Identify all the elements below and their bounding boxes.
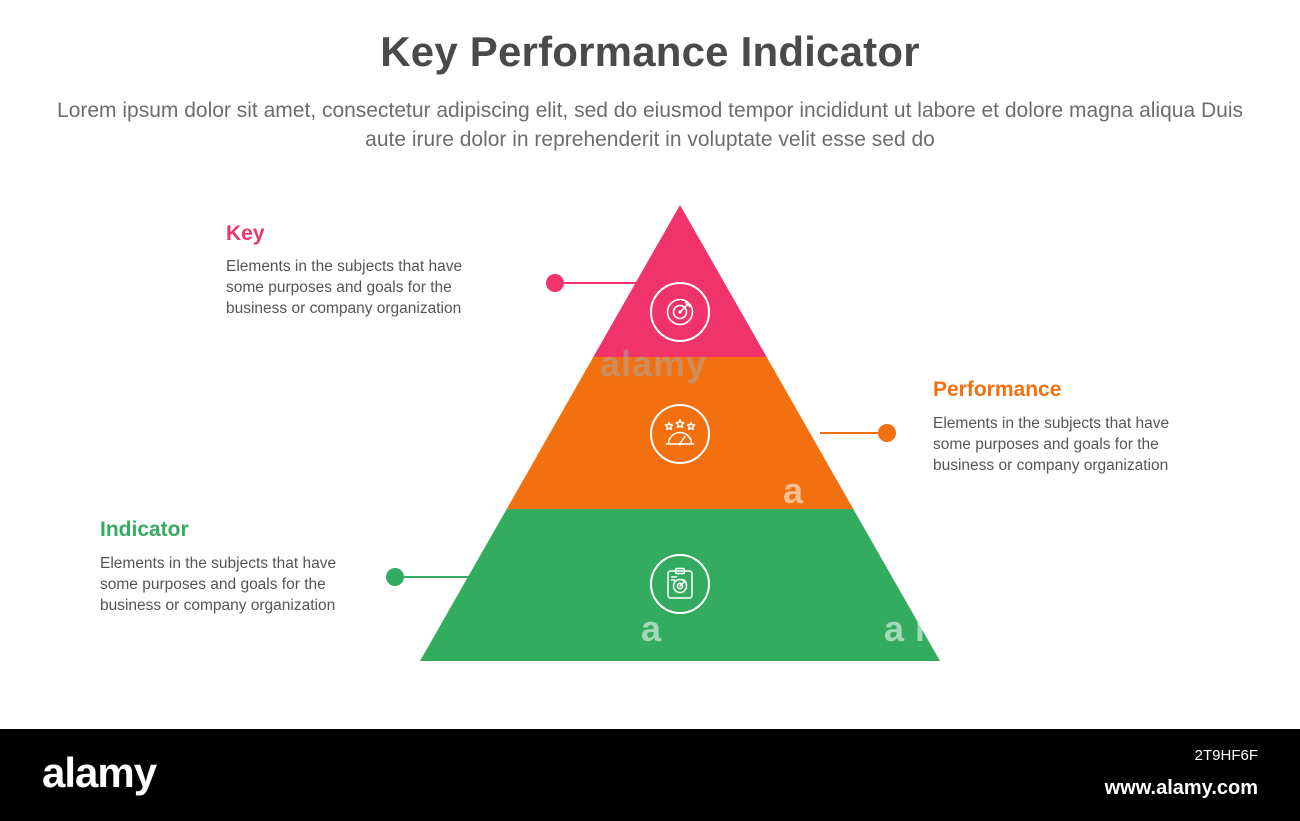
block-desc-key: Elements in the subjects that have some …	[226, 256, 496, 319]
block-title-indicator: Indicator	[100, 518, 189, 542]
page-subtitle: Lorem ipsum dolor sit amet, consectetur …	[50, 96, 1250, 154]
page-title: Key Performance Indicator	[0, 28, 1300, 76]
block-title-key: Key	[226, 222, 265, 246]
block-title-performance: Performance	[933, 378, 1061, 402]
connector-dot-indicator	[386, 568, 404, 586]
footer-bar: alamy 2T9HF6F www.alamy.com	[0, 729, 1300, 821]
target-arrow-icon	[650, 282, 710, 342]
block-desc-performance: Elements in the subjects that have some …	[933, 413, 1208, 476]
connector-dot-performance	[878, 424, 896, 442]
connector-line-indicator	[396, 576, 486, 578]
clipboard-target-icon	[650, 554, 710, 614]
connector-line-key	[556, 282, 666, 284]
gauge-stars-icon	[650, 404, 710, 464]
block-desc-indicator: Elements in the subjects that have some …	[100, 553, 372, 616]
connector-dot-key	[546, 274, 564, 292]
slide-canvas: Key Performance Indicator Lorem ipsum do…	[0, 0, 1300, 821]
footer-url[interactable]: www.alamy.com	[1105, 777, 1258, 800]
image-id: 2T9HF6F	[1195, 747, 1258, 764]
alamy-logo: alamy	[42, 749, 156, 797]
